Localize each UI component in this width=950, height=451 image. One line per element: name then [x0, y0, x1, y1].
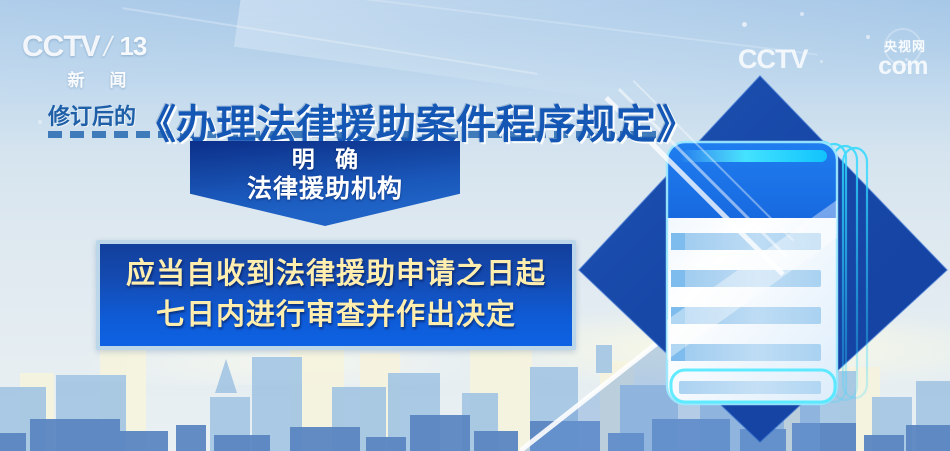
headline-title: 办理法律援助案件程序规定 — [176, 103, 656, 147]
bokeh-dot-icon — [80, 44, 83, 47]
cctv-channel-subtitle: 新 闻 — [22, 66, 172, 91]
watermark-wordmark: CCTV — [738, 44, 808, 75]
ring-accent-icon — [884, 28, 922, 66]
cctv-wordmark: CCTV — [22, 30, 100, 63]
cctv-13-logo: CCTV/13 新 闻 — [22, 30, 172, 92]
cctv-com-watermark: CCTV com 央视网 — [738, 36, 928, 84]
arrow-banner-line-2: 法律援助机构 — [247, 174, 403, 204]
arrow-banner-line-1: 明 确 — [285, 145, 365, 173]
cctv-channel-number: 13 — [119, 29, 146, 63]
bokeh-dot-icon — [905, 58, 908, 61]
sky-streak-icon — [302, 0, 818, 56]
watermark-chinese-name: 央视网 — [884, 36, 926, 55]
statement-line-2: 七日内进行审查并作出决定 — [156, 295, 516, 336]
statement-box: 应当自收到法律援助申请之日起 七日内进行审查并作出决定 — [96, 240, 576, 350]
headline-prefix: 修订后的 — [48, 104, 136, 129]
sky-light-sweep — [0, 0, 950, 180]
watermark-domain: com — [878, 52, 928, 81]
statement-line-1: 应当自收到法律援助申请之日起 — [126, 254, 546, 295]
glowing-document-card — [667, 142, 837, 404]
document-motion-trails — [810, 142, 867, 404]
news-graphic-canvas: CCTV/13 新 闻 CCTV com 央视网 修订后的《办理法律援助案件程序… — [0, 0, 950, 451]
headline-bracket-close: 》 — [656, 103, 696, 147]
bokeh-dot-icon — [800, 12, 804, 16]
bokeh-dot-icon — [742, 22, 747, 27]
cctv-slash-icon: / — [100, 30, 114, 64]
arrow-banner: 明 确 法律援助机构 — [190, 141, 460, 226]
headline-bracket-open: 《 — [136, 103, 176, 147]
bokeh-dot-icon — [820, 60, 823, 63]
document-text-rows — [679, 233, 821, 394]
sky-streak-icon — [122, 7, 537, 75]
statement-box-inner: 应当自收到法律援助申请之日起 七日内进行审查并作出决定 — [100, 244, 572, 346]
bokeh-dot-icon — [866, 35, 870, 39]
bokeh-dot-icon — [38, 120, 42, 124]
